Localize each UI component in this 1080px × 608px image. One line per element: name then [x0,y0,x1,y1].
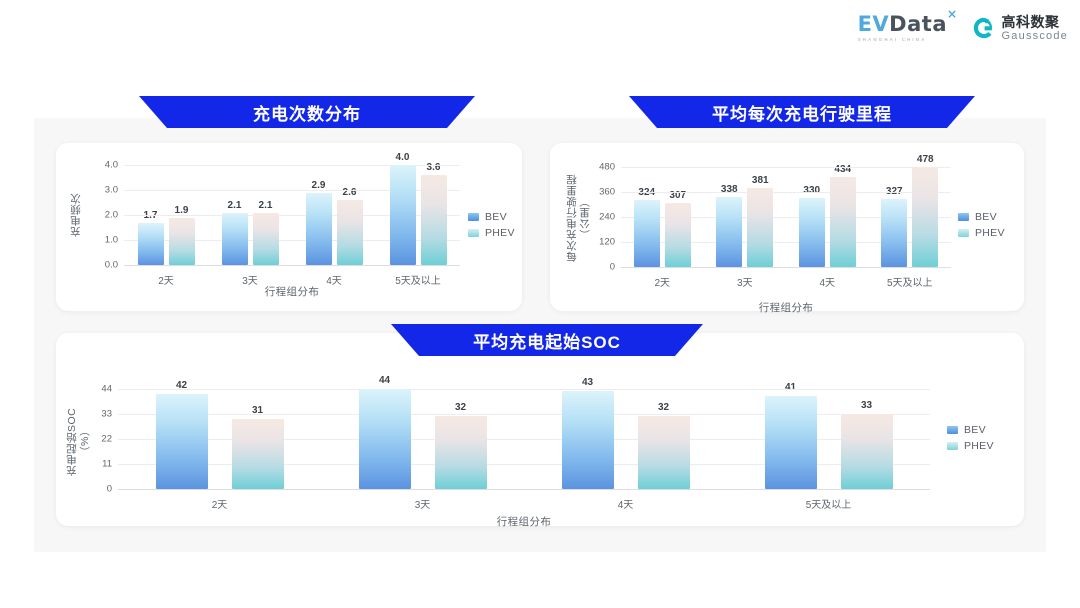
x-axis-tick-label: 5天及以上 [887,274,933,289]
bar-bev-1 [716,197,742,267]
bar-bev-2 [306,193,332,266]
x-axis-tick-label: 3天 [737,274,753,289]
bar-bev-2 [799,198,825,267]
bar-value-label: 43 [582,377,593,388]
chart-title-label: 平均每次充电行驶里程 [712,100,892,125]
legend-label: PHEV [975,227,1005,239]
legend-swatch-bev-icon [947,426,958,434]
bar-value-label: 478 [917,154,934,165]
chart-title-banner-avg-start-soc: 平均充电起始SOC [391,324,703,356]
x-axis-tick-label: 5天及以上 [395,272,441,287]
gausscode-en-label: Gausscode [1002,31,1068,42]
bar-value-label: 44 [379,375,390,386]
bar-phev-1 [747,188,773,267]
legend-item-bev[interactable]: BEV [958,211,1005,223]
bar-bev-0 [156,394,208,489]
bar-phev-1 [435,416,487,489]
x-axis-tick-label: 3天 [415,496,431,511]
gridline [118,389,930,390]
bar-bev-3 [765,396,817,489]
gausscode-text: 高科数聚 Gausscode [1002,15,1068,42]
evdata-subtitle: SHANGHAI CHINA [858,37,927,42]
y-axis-tick-label: 480 [0,162,615,173]
bar-bev-0 [634,200,660,268]
chart-title-banner-charge-frequency: 充电次数分布 [139,96,475,128]
legend-item-phev[interactable]: PHEV [958,227,1005,239]
legend-label: BEV [964,424,986,436]
bar-bev-2 [562,391,614,489]
gausscode-mark-icon [972,16,996,40]
gausscode-cn-label: 高科数聚 [1002,15,1068,29]
evdata-ev-text: EV [858,14,890,35]
x-axis-tick-label: 3天 [242,272,258,287]
chart-title-banner-avg-range-per-charge: 平均每次充电行驶里程 [629,96,975,128]
bar-phev-0 [665,203,691,267]
bar-bev-3 [881,199,907,267]
chart-legend: BEVPHEV [958,211,1005,239]
x-axis-tick-label: 4天 [819,274,835,289]
legend-label: BEV [975,211,997,223]
plot-area [118,389,930,489]
x-axis-tick-label: 2天 [212,496,228,511]
gridline [621,192,951,193]
chart-title-label: 充电次数分布 [253,100,361,125]
legend-swatch-bev-icon [958,213,969,221]
x-axis-line [118,489,930,490]
x-axis-label: 行程组分布 [265,284,320,299]
evdata-wordmark: EVData× [858,14,958,35]
plot-area [621,167,951,267]
evdata-x-icon: × [947,8,958,20]
chart-legend: BEVPHEV [947,424,994,452]
y-axis-tick-label: 22 [0,434,112,445]
bar-phev-2 [337,200,363,265]
y-axis-tick-label: 33 [0,409,112,420]
evdata-logo-icon: EVData× SHANGHAI CHINA [858,14,958,42]
bar-phev-2 [830,177,856,267]
bar-bev-1 [359,389,411,489]
x-axis-label: 行程组分布 [497,514,552,529]
y-axis-tick-label: 120 [0,237,615,248]
legend-item-phev[interactable]: PHEV [947,440,994,452]
x-axis-tick-label: 2天 [158,272,174,287]
gausscode-logo-icon: 高科数聚 Gausscode [972,15,1068,42]
x-axis-line [621,267,951,268]
y-axis-tick-label: 44 [0,384,112,395]
y-axis-tick-label: 11 [0,459,112,470]
bar-phev-3 [912,167,938,267]
x-axis-tick-label: 5天及以上 [806,496,852,511]
evdata-data-text: Data [889,14,947,35]
y-axis-tick-label: 0 [0,262,615,273]
legend-swatch-phev-icon [958,229,969,237]
bar-phev-0 [232,419,284,489]
legend-item-bev[interactable]: BEV [947,424,994,436]
x-axis-label: 行程组分布 [759,300,814,315]
header-logos: EVData× SHANGHAI CHINA 高科数聚 Gausscode [858,14,1068,42]
x-axis-tick-label: 2天 [654,274,670,289]
legend-swatch-phev-icon [947,442,958,450]
bar-phev-2 [638,416,690,489]
y-axis-tick-label: 0 [0,484,112,495]
gridline [621,167,951,168]
bar-phev-3 [841,414,893,489]
y-axis-tick-label: 240 [0,212,615,223]
x-axis-tick-label: 4天 [618,496,634,511]
y-axis-tick-label: 360 [0,187,615,198]
chart-title-label: 平均充电起始SOC [473,328,621,353]
x-axis-tick-label: 4天 [326,272,342,287]
legend-label: PHEV [964,440,994,452]
